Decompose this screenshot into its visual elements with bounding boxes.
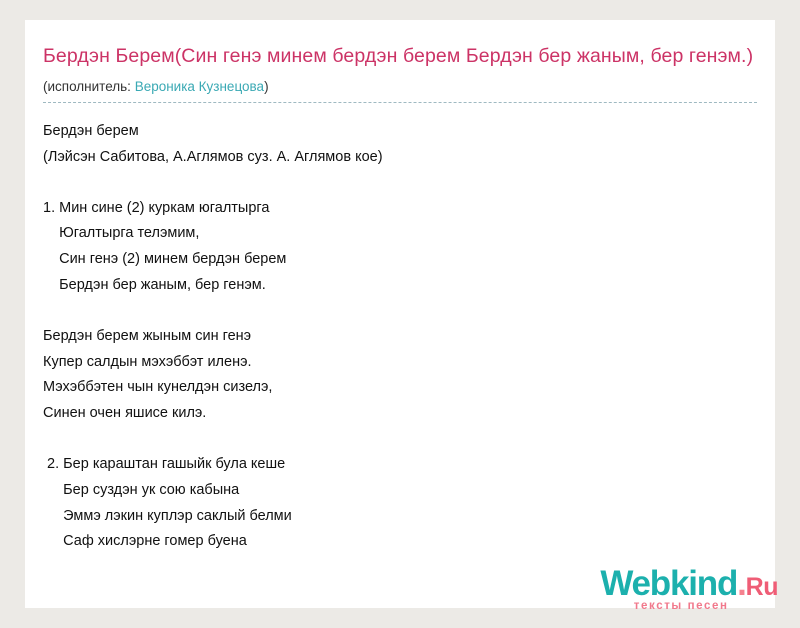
logo-brand-text: Webkind — [600, 564, 737, 603]
card-inner: Бердэн Берем(Син генэ минем бердэн берем… — [25, 20, 775, 555]
lyric-block: 1. Мин сине (2) куркам югалтырга Югалтыр… — [43, 196, 757, 299]
lyric-line: 1. Мин сине (2) куркам югалтырга — [43, 196, 757, 222]
logo-tld-text: Ru — [746, 573, 778, 601]
divider — [43, 102, 757, 103]
lyric-line: (Лэйсэн Сабитова, А.Аглямов суз. А. Агля… — [43, 145, 757, 171]
lyric-line: Бер суздэн ук сою кабына — [43, 478, 757, 504]
lyric-block: Бердэн берем жыным син генэКупер салдын … — [43, 324, 757, 427]
lyric-line: Бердэн бер жаным, бер генэм. — [43, 273, 757, 299]
lyric-line: Бердэн берем жыным син генэ — [43, 324, 757, 350]
artist-line: (исполнитель: Вероника Кузнецова) — [43, 78, 757, 96]
logo-wordmark: Webkind.Ru — [600, 567, 778, 604]
lyrics-body: Бердэн берем(Лэйсэн Сабитова, А.Аглямов … — [43, 119, 757, 555]
artist-prefix-label: (исполнитель: — [43, 79, 135, 94]
lyric-block: 2. Бер караштан гашыйк була кеше Бер суз… — [43, 452, 757, 555]
lyric-line: Югалтырга телэмим, — [43, 221, 757, 247]
lyric-line: Син генэ (2) минем бердэн берем — [43, 247, 757, 273]
artist-suffix-label: ) — [264, 79, 269, 94]
lyric-line: Синен очен яшисе килэ. — [43, 401, 757, 427]
lyric-block: Бердэн берем(Лэйсэн Сабитова, А.Аглямов … — [43, 119, 757, 171]
lyric-line: Бердэн берем — [43, 119, 757, 145]
site-logo[interactable]: Webkind.Ru тексты песен — [600, 567, 778, 612]
lyric-line: 2. Бер караштан гашыйк була кеше — [43, 452, 757, 478]
artist-link[interactable]: Вероника Кузнецова — [135, 79, 264, 94]
song-content-card: Бердэн Берем(Син генэ минем бердэн берем… — [25, 20, 775, 608]
lyric-line: Саф хислэрне гомер буена — [43, 529, 757, 555]
lyric-line: Эммэ лэкин куплэр саклый белми — [43, 504, 757, 530]
lyric-line: Мэхэббэтен чын кунелдэн сизелэ, — [43, 375, 757, 401]
page-root: Бердэн Берем(Син генэ минем бердэн берем… — [0, 0, 800, 628]
page-title: Бердэн Берем(Син генэ минем бердэн берем… — [43, 42, 757, 70]
lyric-line: Купер салдын мэхэббэт иленэ. — [43, 350, 757, 376]
logo-dot-text: . — [737, 564, 746, 603]
